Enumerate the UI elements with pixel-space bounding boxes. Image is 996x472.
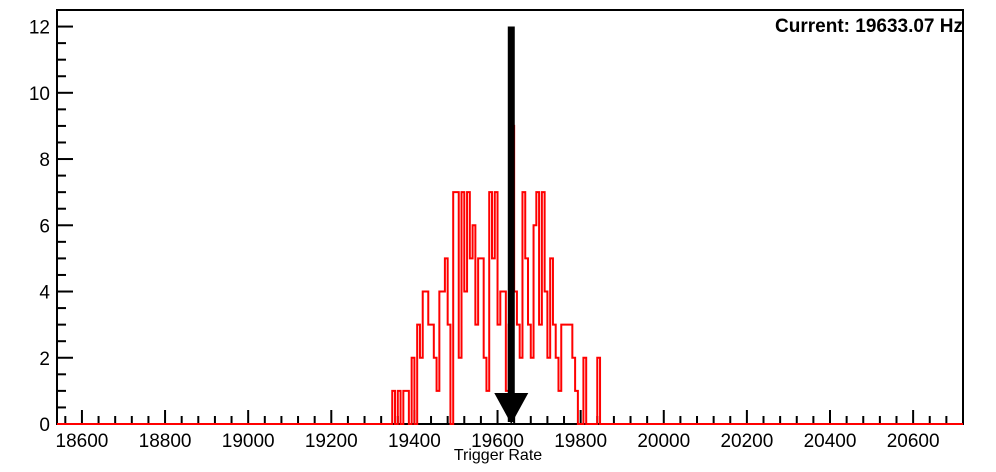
y-tick-label: 0 — [39, 415, 50, 436]
y-tick-label: 4 — [39, 283, 50, 304]
y-tick-label: 10 — [29, 84, 50, 105]
x-axis-title-wrap: Trigger Rate — [0, 447, 996, 465]
chart-root: 024681012 186001880019000192001940019600… — [0, 0, 996, 472]
y-tick-label: 8 — [39, 150, 50, 171]
y-tick-label: 6 — [39, 216, 50, 237]
y-tick-label: 12 — [29, 18, 50, 39]
histogram-canvas: 024681012 186001880019000192001940019600… — [0, 0, 996, 472]
current-rate-text: Current: 19633.07 Hz — [775, 16, 963, 37]
y-tick-label: 2 — [39, 349, 50, 370]
x-axis-title: Trigger Rate — [454, 447, 542, 464]
current-rate-annotation: Current: 19633.07 Hz — [775, 16, 963, 38]
